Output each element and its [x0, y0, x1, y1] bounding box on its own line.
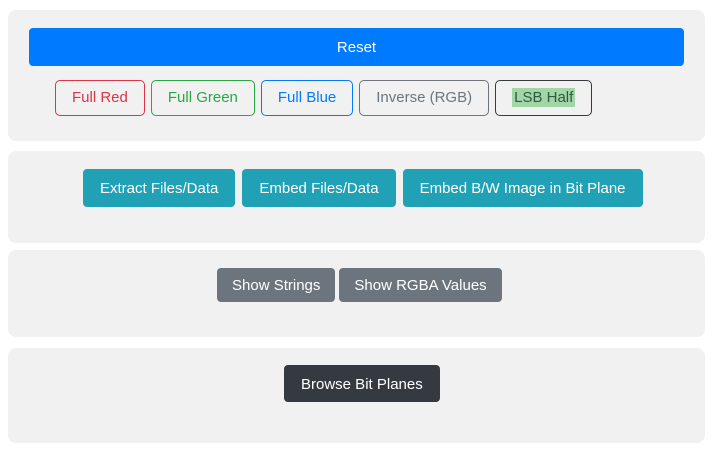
full-red-button[interactable]: Full Red	[55, 80, 145, 116]
full-blue-button[interactable]: Full Blue	[261, 80, 353, 116]
show-strings-button[interactable]: Show Strings	[217, 268, 335, 302]
app-root: Reset Full Red Full Green Full Blue Inve…	[0, 0, 713, 453]
color-filter-button-row: Full Red Full Green Full Blue Inverse (R…	[55, 80, 592, 116]
reset-row: Reset	[29, 28, 684, 66]
embed-bw-image-in-bit-plane-button[interactable]: Embed B/W Image in Bit Plane	[403, 169, 643, 207]
embed-files-data-button[interactable]: Embed Files/Data	[242, 169, 395, 207]
reset-button[interactable]: Reset	[29, 28, 684, 66]
lsb-half-button[interactable]: LSB Half	[495, 80, 592, 116]
embed-button-row: Extract Files/Data Embed Files/Data Embe…	[83, 169, 643, 207]
full-green-button[interactable]: Full Green	[151, 80, 255, 116]
bitplane-button-row: Browse Bit Planes	[284, 365, 440, 402]
color-tools-panel: Reset Full Red Full Green Full Blue Inve…	[8, 10, 705, 141]
show-rgba-values-button[interactable]: Show RGBA Values	[339, 268, 501, 302]
lsb-half-button-label: LSB Half	[512, 88, 575, 107]
inspect-button-row: Show Strings Show RGBA Values	[217, 268, 502, 302]
bitplane-tools-panel: Browse Bit Planes	[8, 348, 705, 443]
browse-bit-planes-button[interactable]: Browse Bit Planes	[284, 365, 440, 402]
extract-files-data-button[interactable]: Extract Files/Data	[83, 169, 235, 207]
inverse-rgb-button[interactable]: Inverse (RGB)	[359, 80, 489, 116]
embed-tools-panel: Extract Files/Data Embed Files/Data Embe…	[8, 151, 705, 243]
inspect-tools-panel: Show Strings Show RGBA Values	[8, 250, 705, 337]
